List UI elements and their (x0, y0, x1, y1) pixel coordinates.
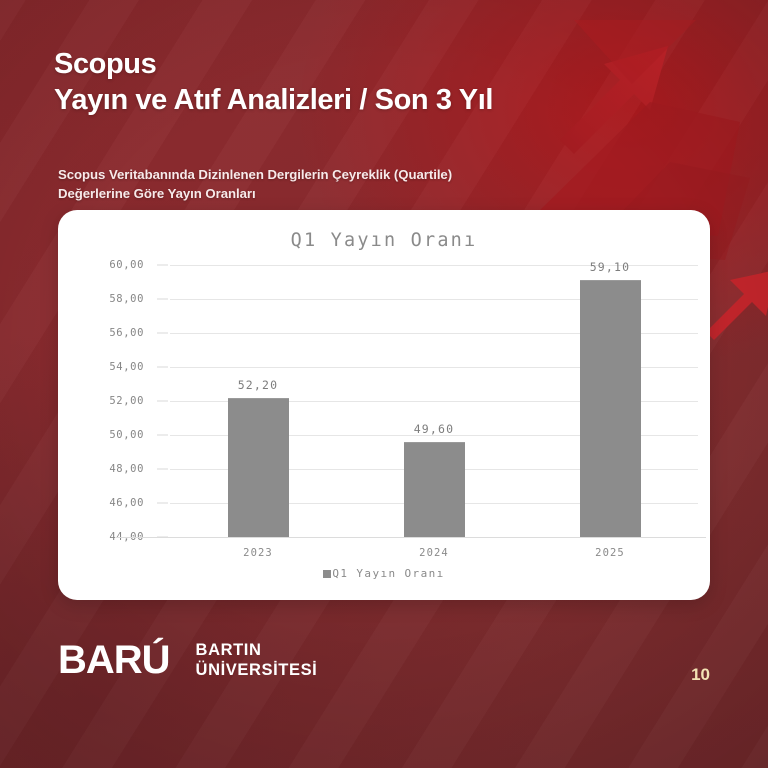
chart-y-axis-label: 58,00 (88, 293, 144, 305)
chart-y-axis-label: 50,00 (88, 429, 144, 441)
page-title: Scopus Yayın ve Atıf Analizleri / Son 3 … (54, 46, 493, 118)
chart-y-tick-mark (157, 469, 168, 470)
footer-logo: BARÚ BARTIN ÜNİVERSİTESİ (58, 640, 317, 680)
chart-y-axis-label: 48,00 (88, 463, 144, 475)
chart-x-axis-label: 2024 (384, 547, 484, 559)
title-line-1: Scopus (54, 46, 493, 82)
chart-bar-value-label: 52,20 (208, 378, 308, 392)
chart-y-tick-mark (157, 503, 168, 504)
chart-bar-value-label: 59,10 (560, 260, 660, 274)
chart-legend: Q1 Yayın Oranı (58, 567, 710, 580)
chart-y-tick-mark (157, 333, 168, 334)
chart-bar[interactable] (228, 398, 289, 537)
chart-bar[interactable] (580, 280, 641, 537)
chart-plot-area: 60,0058,0056,0054,0052,0050,0048,0046,00… (58, 210, 710, 600)
chart-card: Q1 Yayın Oranı 60,0058,0056,0054,0052,00… (58, 210, 710, 600)
university-name-line-2: ÜNİVERSİTESİ (196, 660, 318, 680)
chart-y-axis-label: 56,00 (88, 327, 144, 339)
subtitle-line-1: Scopus Veritabanında Dizinlenen Dergiler… (58, 165, 452, 184)
chart-y-tick-mark (157, 265, 168, 266)
chart-y-axis-label: 60,00 (88, 259, 144, 271)
chart-y-axis-label: 46,00 (88, 497, 144, 509)
chart-y-tick-mark (157, 435, 168, 436)
chart-bar[interactable] (404, 442, 465, 537)
university-name: BARTIN ÜNİVERSİTESİ (196, 640, 318, 680)
page-number: 10 (691, 665, 710, 685)
subtitle: Scopus Veritabanında Dizinlenen Dergiler… (58, 165, 452, 203)
chart-legend-label: Q1 Yayın Oranı (332, 567, 444, 580)
chart-legend-swatch (323, 570, 331, 578)
chart-y-axis-label: 54,00 (88, 361, 144, 373)
chart-x-axis-label: 2025 (560, 547, 660, 559)
chart-y-tick-mark (157, 401, 168, 402)
chart-y-tick-mark (157, 367, 168, 368)
baru-logo-mark: BARÚ (58, 640, 170, 680)
chart-y-tick-mark (157, 299, 168, 300)
title-line-2: Yayın ve Atıf Analizleri / Son 3 Yıl (54, 82, 493, 118)
chart-x-axis (116, 537, 706, 538)
university-name-line-1: BARTIN (196, 640, 318, 660)
chart-bar-value-label: 49,60 (384, 422, 484, 436)
chart-y-axis-label: 52,00 (88, 395, 144, 407)
subtitle-line-2: Değerlerine Göre Yayın Oranları (58, 184, 452, 203)
chart-x-axis-label: 2023 (208, 547, 308, 559)
